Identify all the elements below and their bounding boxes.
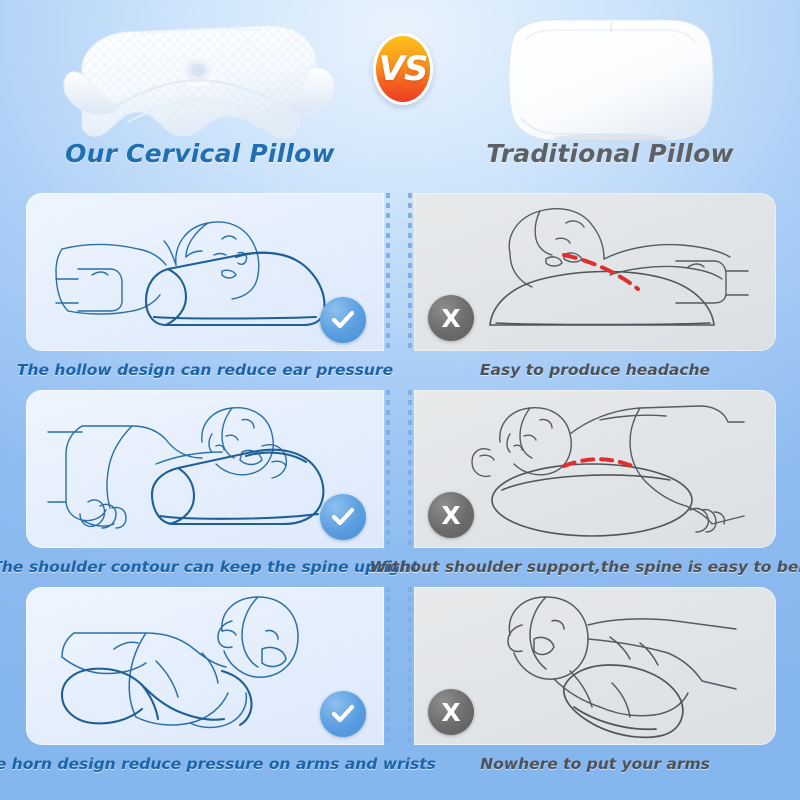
comparison-row-spine-alignment: X The shoulder contour can keep the spin… [0, 390, 800, 587]
check-icon [329, 306, 357, 334]
traditional-pillow-title: Traditional Pillow [455, 139, 765, 168]
panel-our-pillow-ear-pressure [26, 193, 384, 351]
panel-traditional-spine: X [414, 390, 776, 548]
perforation-line-left [386, 587, 390, 745]
perforation-line-right [408, 587, 412, 745]
panel-traditional-arms: X [414, 587, 776, 745]
hero-column-traditional-pillow: Traditional Pillow [455, 0, 765, 190]
traditional-pillow-icon [495, 14, 725, 146]
verdict-badge-check [320, 494, 366, 540]
perforation-line-right [408, 390, 412, 548]
check-icon [329, 700, 357, 728]
hero-column-our-pillow: Our Cervical Pillow [30, 0, 370, 190]
verdict-badge-x: X [428, 689, 474, 735]
panel-traditional-ear-pressure: X [414, 193, 776, 351]
verdict-badge-x: X [428, 295, 474, 341]
traditional-pillow-image [455, 4, 765, 144]
our-pillow-title: Our Cervical Pillow [30, 139, 370, 168]
x-label: X [441, 503, 460, 528]
x-label: X [441, 306, 460, 331]
cervical-pillow-image [30, 4, 370, 144]
verdict-badge-check [320, 297, 366, 343]
cervical-pillow-icon [50, 10, 350, 150]
panel-our-pillow-spine [26, 390, 384, 548]
caption-traditional-arms: Nowhere to put your arms [414, 747, 776, 781]
verdict-badge-check [320, 691, 366, 737]
caption-traditional-spine: Without shoulder support,the spine is ea… [414, 550, 776, 584]
caption-our-pillow-ear-pressure: The hollow design can reduce ear pressur… [26, 353, 384, 387]
vs-label: VS [379, 52, 428, 86]
perforation-line-left [386, 390, 390, 548]
x-label: X [441, 700, 460, 725]
perforation-line-left [386, 193, 390, 351]
comparison-infographic: Our Cervical Pillow [0, 0, 800, 800]
hero-section: Our Cervical Pillow [0, 0, 800, 190]
verdict-badge-x: X [428, 492, 474, 538]
comparison-row-arm-support: X The horn design reduce pressure on arm… [0, 587, 800, 784]
panel-our-pillow-arms [26, 587, 384, 745]
comparison-row-ear-pressure: X The hollow design can reduce ear press… [0, 193, 800, 390]
vs-badge-icon: VS [373, 33, 433, 105]
check-icon [329, 503, 357, 531]
perforation-line-right [408, 193, 412, 351]
caption-our-pillow-arms: The horn design reduce pressure on arms … [26, 747, 384, 781]
caption-our-pillow-spine: The shoulder contour can keep the spine … [26, 550, 384, 584]
caption-traditional-ear-pressure: Easy to produce headache [414, 353, 776, 387]
